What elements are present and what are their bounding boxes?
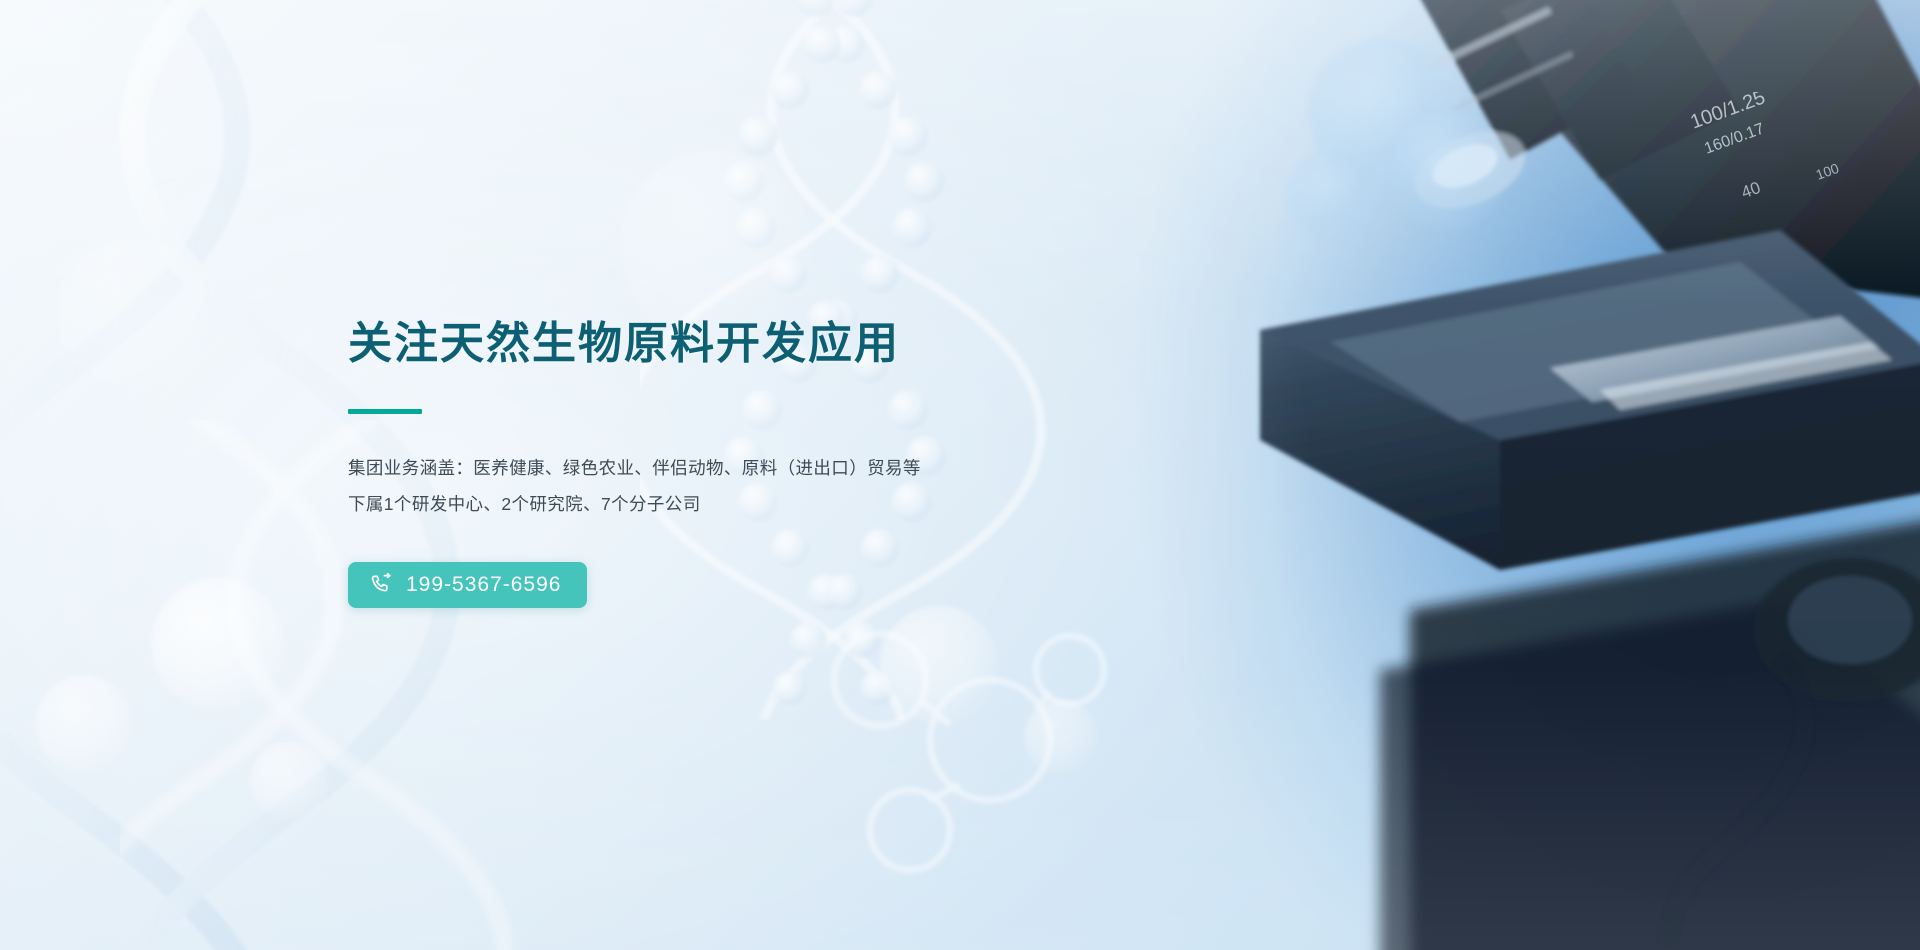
hero-banner: 100/1.25 160/0.17 40 100 关注天然生物原料开发应用 集团… (0, 0, 1920, 950)
hero-description-line-1: 集团业务涵盖：医养健康、绿色农业、伴侣动物、原料（进出口）贸易等 (348, 450, 1108, 486)
title-divider (348, 409, 422, 414)
hero-description-line-2: 下属1个研发中心、2个研究院、7个分子公司 (348, 486, 1108, 522)
hero-description: 集团业务涵盖：医养健康、绿色农业、伴侣动物、原料（进出口）贸易等 下属1个研发中… (348, 450, 1108, 522)
page-title: 关注天然生物原料开发应用 (348, 318, 1108, 371)
phone-forward-icon (370, 573, 394, 597)
hero-content: 关注天然生物原料开发应用 集团业务涵盖：医养健康、绿色农业、伴侣动物、原料（进出… (348, 318, 1108, 608)
phone-cta-button[interactable]: 199-5367-6596 (348, 562, 587, 608)
phone-number-label: 199-5367-6596 (406, 574, 561, 595)
